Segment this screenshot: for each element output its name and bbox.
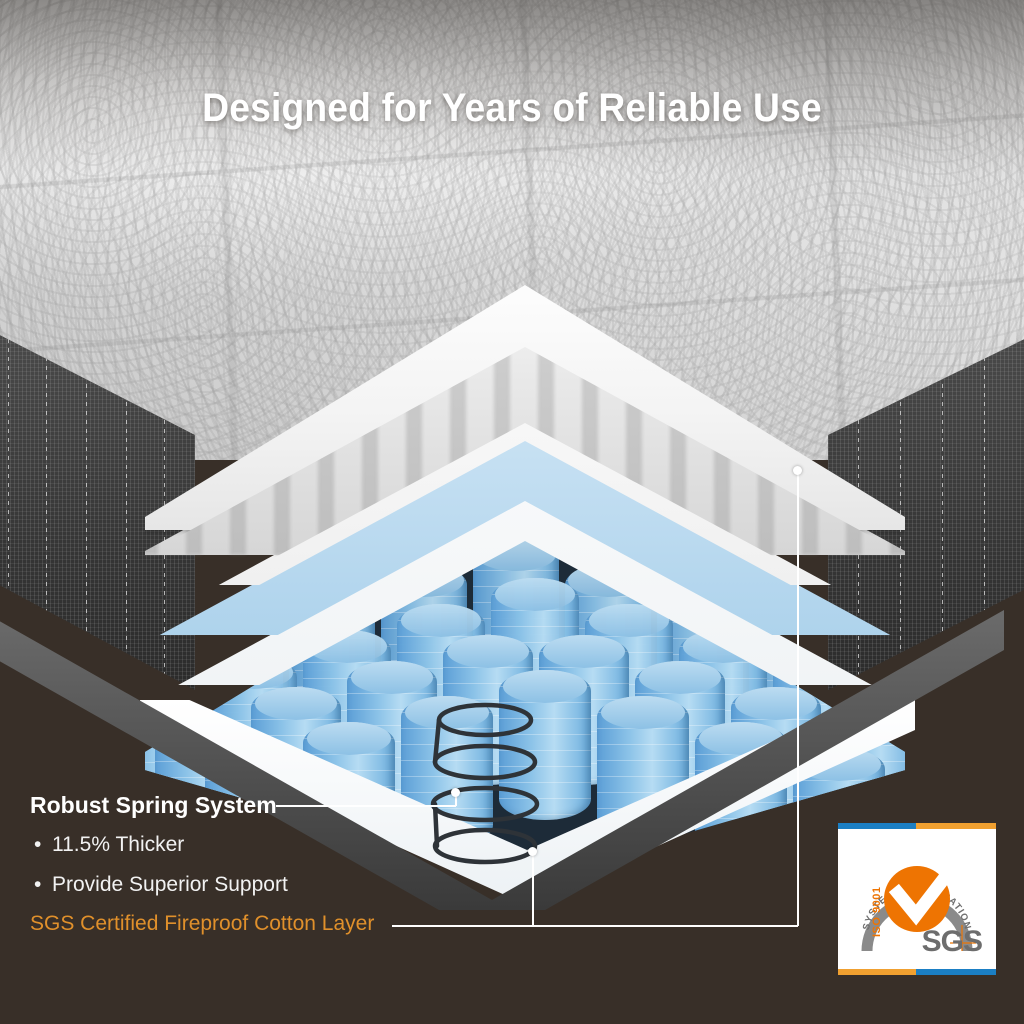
leader-dot-spring bbox=[451, 788, 460, 797]
callout-cotton-label: SGS Certified Fireproof Cotton Layer bbox=[30, 912, 374, 936]
callout-bullet-text: 11.5% Thicker bbox=[52, 833, 184, 856]
leader-dot-right-foam bbox=[793, 466, 802, 475]
sgs-certification-badge: SYSTEM CERTIFICATION ISO 9001 SGS bbox=[838, 823, 996, 975]
badge-accent-top-right bbox=[916, 823, 996, 829]
check-mask bbox=[950, 839, 980, 869]
leader-line-cotton-horizontal bbox=[392, 925, 798, 927]
sgs-wordmark: SGS bbox=[922, 927, 982, 957]
arc-side-label: ISO 9001 bbox=[871, 887, 883, 937]
leader-line-cotton-vertical bbox=[532, 851, 534, 926]
badge-accent-bottom-left bbox=[838, 969, 924, 975]
bullet-dot-icon: • bbox=[34, 833, 52, 857]
bullet-dot-icon: • bbox=[34, 873, 52, 897]
callout-bullet-thicker: •11.5% Thicker bbox=[34, 833, 184, 857]
leader-dot-cotton bbox=[528, 847, 537, 856]
badge-accent-top-left bbox=[838, 823, 924, 829]
callout-bullet-text: Provide Superior Support bbox=[52, 873, 288, 896]
leader-line-spring-horizontal bbox=[276, 805, 456, 807]
badge-accent-bottom-right bbox=[916, 969, 996, 975]
callout-spring-headline: Robust Spring System bbox=[30, 792, 277, 819]
leader-line-right-vertical bbox=[797, 470, 799, 926]
callout-bullet-support: •Provide Superior Support bbox=[34, 873, 288, 897]
product-infographic: Designed for Years of Reliable Use Robus… bbox=[0, 0, 1024, 1024]
